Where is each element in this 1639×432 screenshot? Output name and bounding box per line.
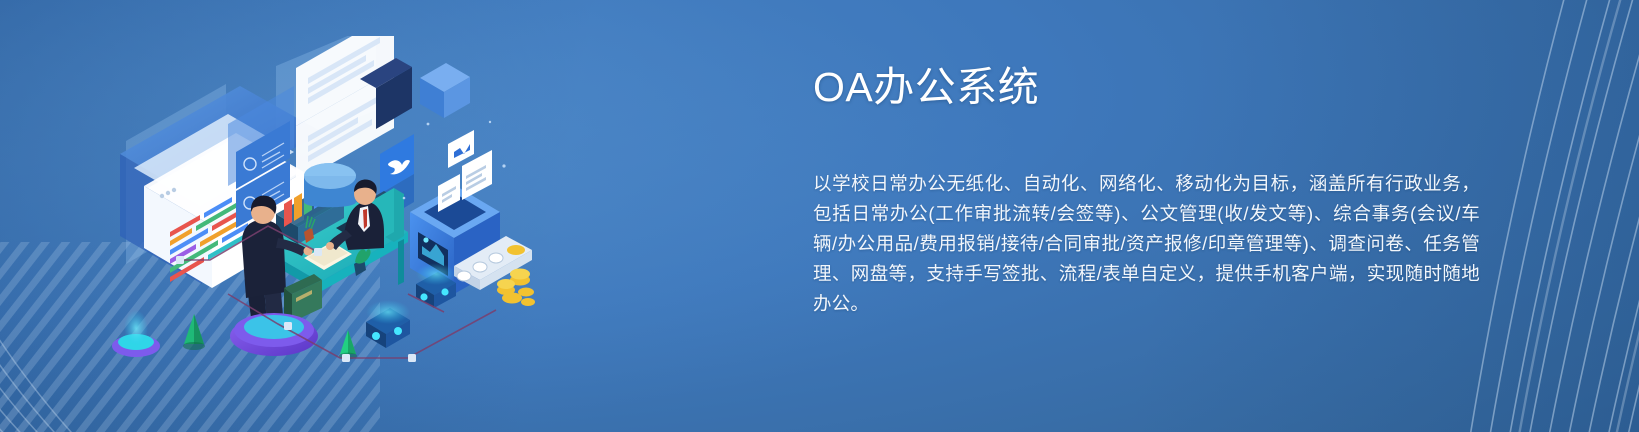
banner-text-column: OA办公系统 以学校日常办公无纸化、自动化、网络化、移动化为目标，涵盖所有行政业… (813, 62, 1513, 319)
banner-description: 以学校日常办公无纸化、自动化、网络化、移动化为目标，涵盖所有行政业务，包括日常办… (813, 169, 1480, 319)
page-title: OA办公系统 (813, 62, 1513, 113)
oa-system-banner: OA办公系统 以学校日常办公无纸化、自动化、网络化、移动化为目标，涵盖所有行政业… (0, 0, 1639, 432)
isometric-office-workflow-illustration (108, 36, 538, 381)
